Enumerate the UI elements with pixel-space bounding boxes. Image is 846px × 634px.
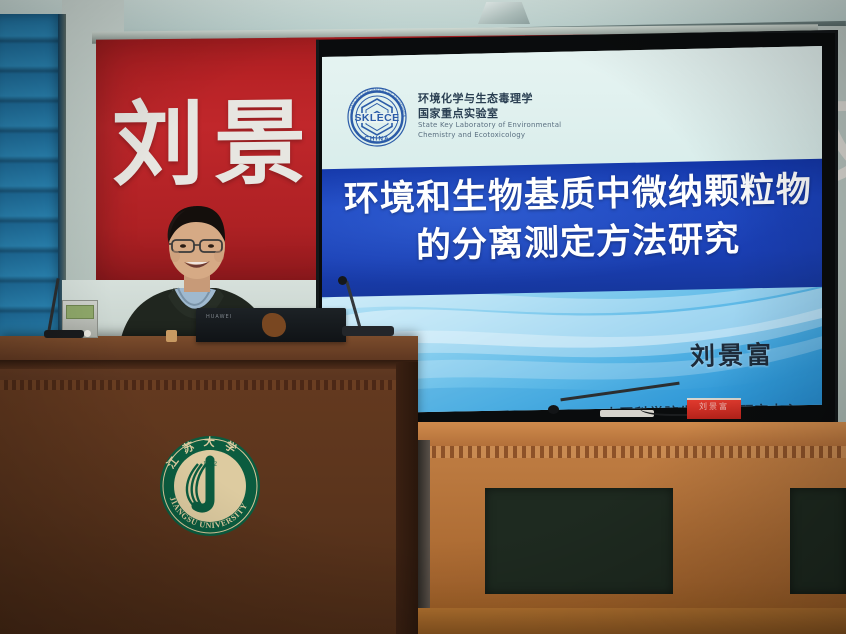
podium-decorative-trim: [0, 380, 396, 390]
svg-text:CHINA: CHINA: [364, 136, 390, 143]
svg-text:SKLECE: SKLECE: [355, 112, 400, 124]
table-leg: [418, 440, 430, 634]
svg-text:1902: 1902: [203, 460, 218, 468]
laptop-sticker: [262, 313, 286, 337]
lab-name-en-line1: State Key Laboratory of Environmental: [418, 121, 561, 129]
table-inset-panel: [485, 488, 673, 594]
table-decorative-trim: [418, 446, 846, 458]
slide-speaker-name: 刘景富: [652, 334, 813, 373]
microphone-head-icon: [338, 276, 347, 285]
control-panel-knob[interactable]: [84, 330, 91, 337]
microphone-head-icon: [548, 405, 559, 414]
sklece-logo-icon: SKLECE CHINA STATE KEY LABORATORY OF ENV…: [346, 86, 408, 148]
lecture-hall-photo: 刘景富 及 SKLECE CHINA STATE KEY LABORATORY …: [0, 0, 846, 634]
laptop-brand-label: HUAWEI: [206, 314, 232, 320]
jiangsu-university-emblem-icon: 1902 江苏大学 JIANGSU UNIVERSITY: [158, 434, 262, 538]
lab-name-en-line2: Chemistry and Ecotoxicology: [418, 131, 525, 139]
table-base-rail: [418, 608, 846, 634]
lab-name-cn-line1: 环境化学与生态毒理学: [418, 90, 533, 106]
lab-name-cn-line2: 国家重点实验室: [418, 105, 499, 121]
microphone-base: [342, 326, 394, 336]
podium-lip: [0, 360, 418, 369]
podium-side-edge: [396, 362, 418, 634]
microphone-base: [44, 330, 84, 338]
table-inset-panel: [790, 488, 846, 594]
ceiling-downlight-icon: [478, 2, 530, 24]
nameplate-text: 刘景富: [687, 401, 741, 412]
table-top-surface: [418, 422, 846, 446]
control-panel-display: [66, 305, 94, 319]
cup: [166, 330, 177, 342]
